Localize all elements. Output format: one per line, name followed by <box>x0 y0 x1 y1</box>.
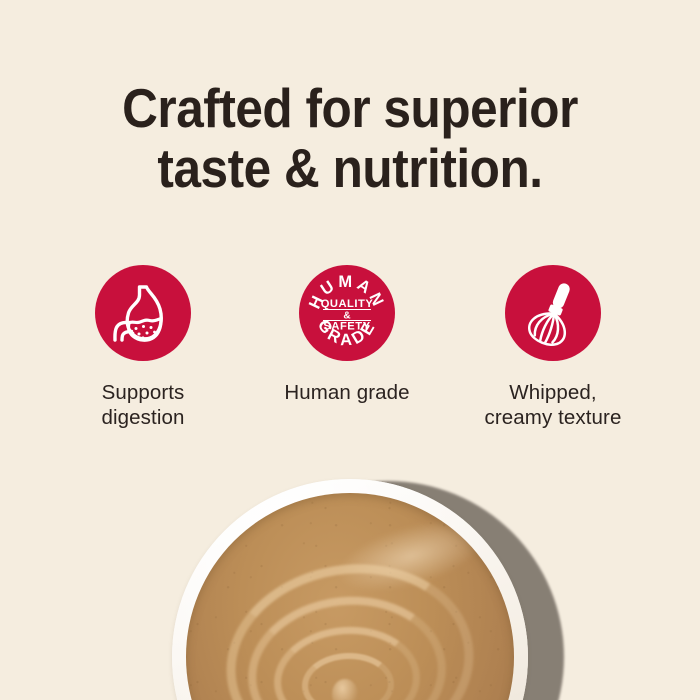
badge-circle: HUMAN GRADE QUALITY & SAFETY <box>299 265 395 361</box>
creamy-spread-surface <box>186 493 514 700</box>
badge-caption-line-1: Whipped, <box>463 380 643 405</box>
feature-badge-supports-digestion: Supports digestion <box>53 265 233 430</box>
badge-caption-line-1: Supports <box>53 380 233 405</box>
badge-caption: Supports digestion <box>53 380 233 430</box>
feature-badge-human-grade: HUMAN GRADE QUALITY & SAFETY <box>257 265 437 405</box>
seal-center-line-1: QUALITY <box>321 298 374 310</box>
badge-caption: Human grade <box>257 380 437 405</box>
badge-caption-line-2: digestion <box>53 405 233 430</box>
badge-caption: Whipped, creamy texture <box>463 380 643 430</box>
feature-badge-row: Supports digestion HUMAN <box>0 265 700 455</box>
headline-line-2: taste & nutrition. <box>35 138 665 198</box>
headline-line-1: Crafted for superior <box>35 78 665 138</box>
badge-circle <box>95 265 191 361</box>
stomach-icon <box>95 265 191 361</box>
seal-center-line-3: SAFETY <box>323 321 370 333</box>
page-title: Crafted for superior taste & nutrition. <box>35 78 665 198</box>
product-photo-bowl-of-creamy-spread <box>0 455 700 700</box>
badge-circle <box>505 265 601 361</box>
feature-badge-whipped-texture: Whipped, creamy texture <box>463 265 643 430</box>
badge-caption-line-1: Human grade <box>257 380 437 405</box>
whisk-icon <box>505 265 601 361</box>
promo-canvas: Crafted for superior taste & nutrition. <box>0 0 700 700</box>
human-grade-seal-icon: HUMAN GRADE QUALITY & SAFETY <box>299 265 395 361</box>
badge-caption-line-2: creamy texture <box>463 405 643 430</box>
